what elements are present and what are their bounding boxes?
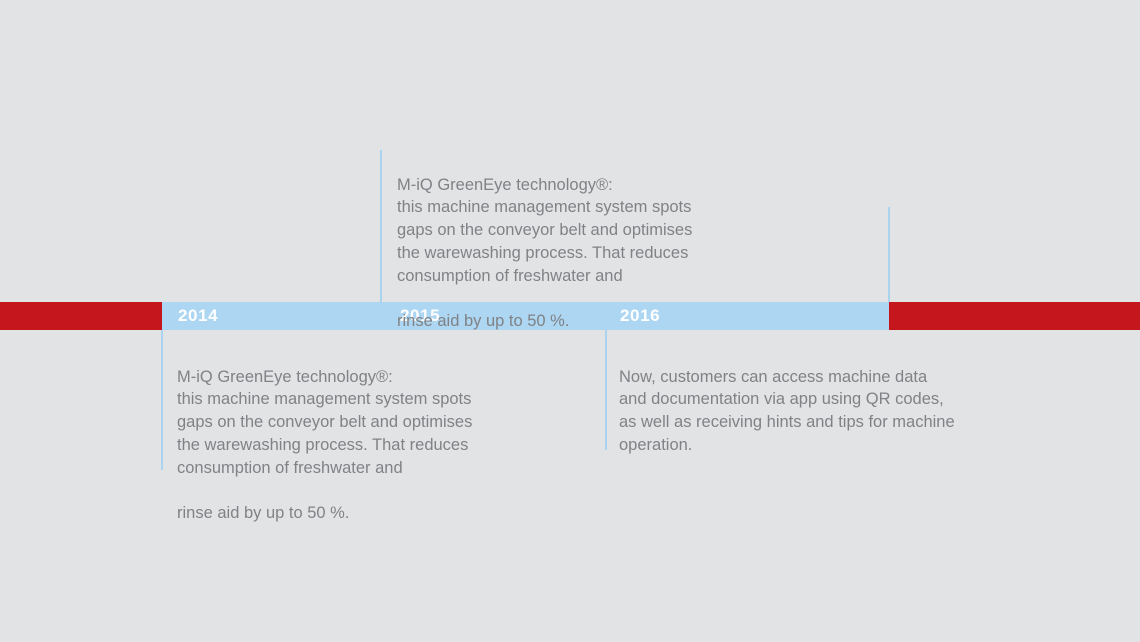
connector-line-top-right (888, 207, 890, 302)
callout-bottom-left-body: M-iQ GreenEye technology®: this machine … (177, 368, 472, 477)
callout-top-body: M-iQ GreenEye technology®: this machine … (397, 176, 692, 285)
timeline-year-2014: 2014 (178, 302, 218, 330)
callout-bottom-right-body: Now, customers can access machine data a… (619, 368, 955, 454)
callout-text-bottom-left: M-iQ GreenEye technology®: this machine … (177, 343, 507, 547)
timeline-infographic: 2014 2015 2016 M-iQ GreenEye technology®… (0, 0, 1140, 642)
callout-text-top: M-iQ GreenEye technology®: this machine … (397, 151, 727, 355)
callout-bottom-left-tail: rinse aid by up to 50 %. (177, 502, 507, 525)
callout-text-bottom-right: Now, customers can access machine data a… (619, 343, 1019, 457)
connector-line-bottom-left (161, 330, 163, 470)
connector-line-top-left (380, 150, 382, 302)
callout-top-tail: rinse aid by up to 50 %. (397, 310, 727, 333)
